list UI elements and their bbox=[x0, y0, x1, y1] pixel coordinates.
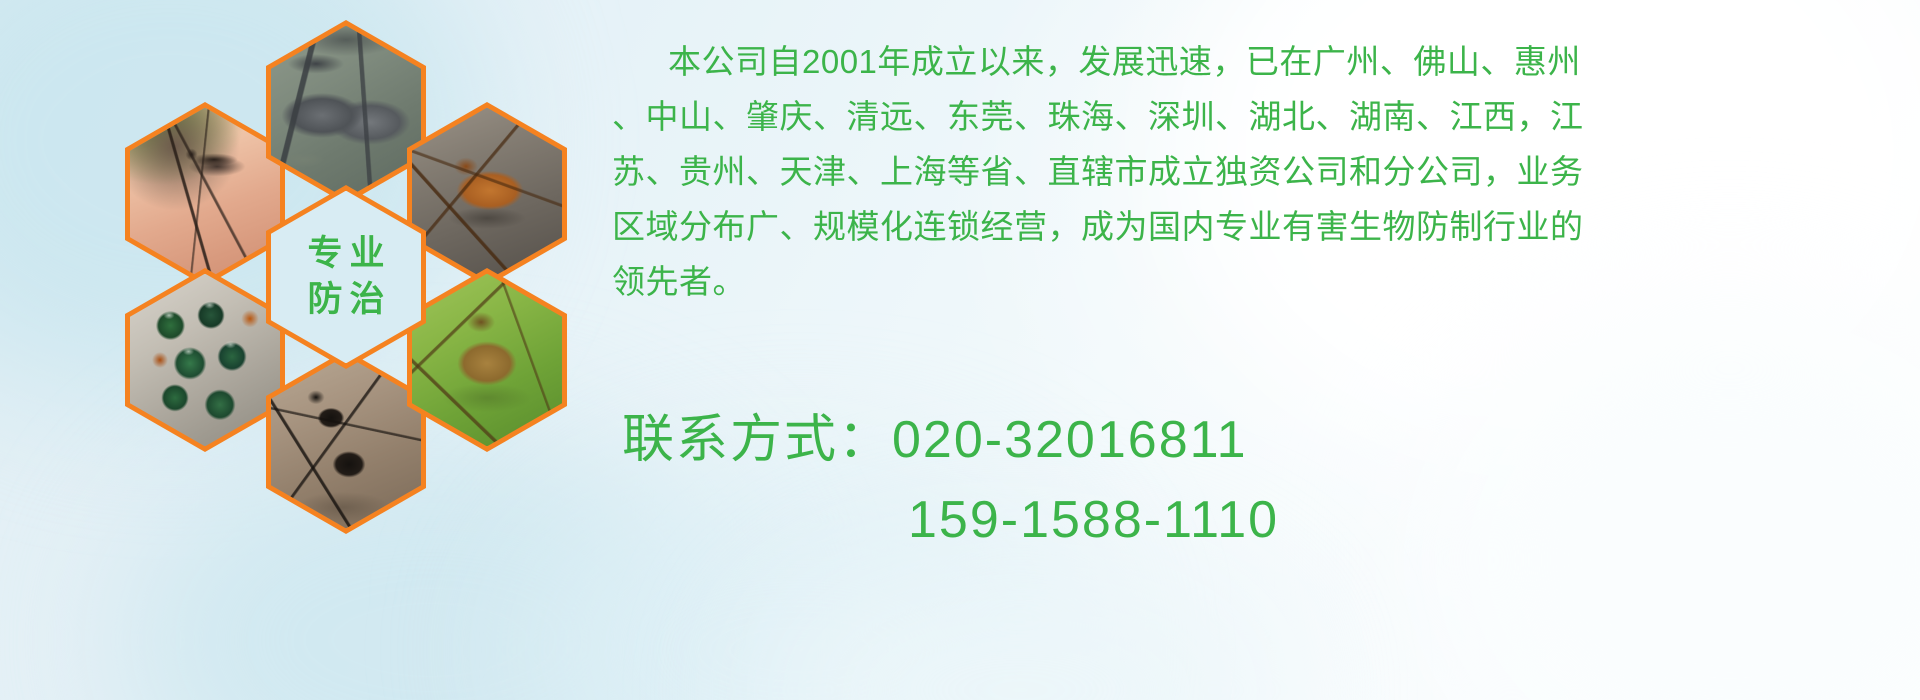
hex-cell-rats bbox=[266, 20, 426, 204]
hex-cell-cockroach bbox=[407, 102, 567, 286]
contact-row-secondary: 159-1588-1110 bbox=[622, 480, 1902, 560]
intro-line-4: 区域分布广、规模化连锁经营，成为国内专业有害生物防制行业的 bbox=[612, 199, 1882, 254]
phone-secondary[interactable]: 159-1588-1110 bbox=[908, 491, 1279, 549]
intro-paragraph: 本公司自2001年成立以来，发展迅速，已在广州、佛山、惠州 、中山、肇庆、清远、… bbox=[612, 34, 1882, 309]
rats-photo bbox=[271, 26, 421, 199]
slogan-line-2: 防治 bbox=[300, 281, 391, 319]
intro-line-2: 、中山、肇庆、清远、东莞、珠海、深圳、湖北、湖南、江西，江 bbox=[612, 89, 1882, 144]
hex-cell-slogan: 专业 防治 bbox=[266, 185, 426, 369]
hex-cell-flies bbox=[125, 268, 285, 452]
contact-row-primary: 联系方式：020-32016811 bbox=[622, 400, 1902, 480]
honeycomb-image-cluster: 专业 防治 bbox=[92, 0, 592, 552]
intro-line-3: 苏、贵州、天津、上海等省、直辖市成立独资公司和分公司，业务 bbox=[612, 144, 1882, 199]
contact-label: 联系方式： bbox=[622, 411, 892, 469]
cockroach-photo bbox=[412, 108, 562, 281]
slogan-line-1: 专业 bbox=[300, 235, 391, 273]
promo-banner: 专业 防治 本公司自2001年成立以来，发展迅速，已在广州、佛山、惠州 、中山、… bbox=[0, 0, 1920, 700]
stink-bug-photo bbox=[412, 274, 562, 447]
ants-photo bbox=[271, 356, 421, 529]
phone-primary[interactable]: 020-32016811 bbox=[892, 411, 1248, 469]
copy-column: 本公司自2001年成立以来，发展迅速，已在广州、佛山、惠州 、中山、肇庆、清远、… bbox=[612, 34, 1882, 309]
hex-cell-stinkbug bbox=[407, 268, 567, 452]
contact-block: 联系方式：020-32016811 159-1588-1110 bbox=[622, 400, 1902, 560]
hex-cell-mosquito bbox=[125, 102, 285, 286]
flies-photo bbox=[130, 274, 280, 447]
mosquito-photo bbox=[130, 108, 280, 281]
intro-line-1: 本公司自2001年成立以来，发展迅速，已在广州、佛山、惠州 bbox=[612, 34, 1882, 89]
background-blob bbox=[760, 560, 1280, 700]
hex-cell-ants bbox=[266, 350, 426, 534]
intro-line-5: 领先者。 bbox=[612, 254, 1882, 309]
